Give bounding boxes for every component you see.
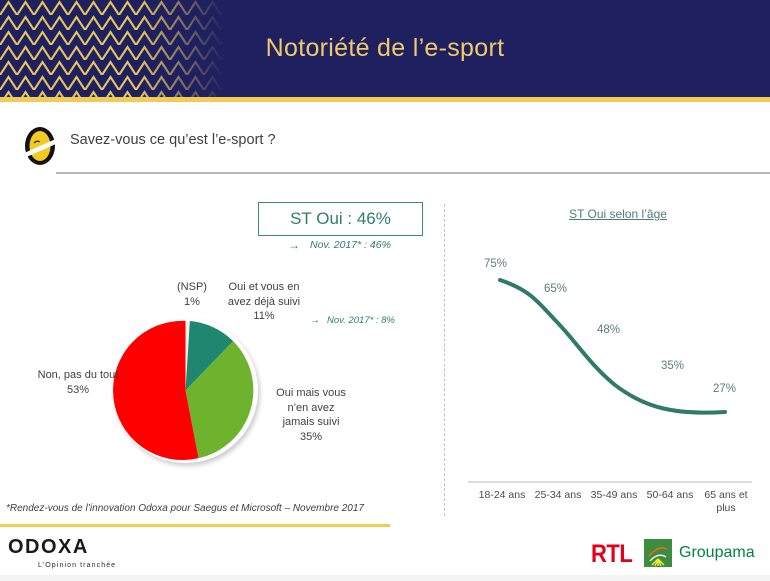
line-chart-x-label-0: 18-24 ans [473,489,531,502]
pie-label-oui-suivi-value: 11% [218,309,310,324]
pie-label-nsp-value: 1% [162,295,222,310]
line-chart-value-label-3: 35% [661,360,684,372]
pie-label-non-value: 53% [18,383,138,398]
slide-header: Notoriété de l’e-sport [0,0,770,97]
pie-label-oui-jamais: Oui mais vous n’en avez jamais suivi 35% [265,386,357,444]
line-chart-value-label-4: 27% [713,383,736,395]
odoxa-wordmark-text: ODOXA [8,536,89,559]
question-divider [56,172,770,174]
pie-label-non-line1: Non, pas du tout [18,368,138,383]
pie-label-oui-jamais-line2: n’en avez [265,401,357,416]
line-chart-title: ST Oui selon l’âge [468,207,768,221]
pie-label-oui-suivi-line1: Oui et vous en [218,280,310,295]
pie-label-oui-jamais-line1: Oui mais vous [265,386,357,401]
odoxa-logo-mark [20,124,60,168]
pie-label-non: Non, pas du tout 53% [18,368,138,397]
slide-root: Notoriété de l’e-sport Savez-vous ce qu’… [0,0,770,581]
page-title: Notoriété de l’e-sport [0,0,770,97]
line-chart-x-label-1: 25-34 ans [529,489,587,502]
st-oui-badge: ST Oui : 46% [258,202,423,236]
line-chart-series-path [500,280,725,413]
pie-annotation-text: Nov. 2017* : 8% [327,315,395,326]
pie-label-oui-suivi-line2: avez déjà suivi [218,295,310,310]
groupama-logo: Groupama [644,539,755,567]
pie-annotation-nov2017: → Nov. 2017* : 8% [310,315,395,326]
slide-bottom-edge [0,575,770,581]
arrow-right-icon: → [288,238,300,252]
line-chart-x-label-2: 35-49 ans [585,489,643,502]
pie-label-oui-jamais-value: 35% [265,430,357,445]
line-chart-svg [460,240,760,490]
odoxa-wordmark: ODOXA [8,536,116,559]
st-oui-comparison-text: Nov. 2017* : 46% [310,239,391,251]
arrow-right-icon-2: → [310,315,320,326]
footer-gold-rule [0,524,390,527]
st-oui-comparison: → Nov. 2017* : 46% [288,238,391,252]
question-text: Savez-vous ce qu’est l’e-sport ? [70,132,276,148]
pie-label-oui-jamais-line3: jamais suivi [265,415,357,430]
line-chart-value-label-0: 75% [484,258,507,270]
source-note: *Rendez-vous de l’innovation Odoxa pour … [6,503,364,514]
groupama-wordmark: Groupama [679,544,755,562]
line-chart-value-label-2: 48% [597,324,620,336]
line-chart-x-label-4: 65 ans et plus [700,489,752,515]
header-gold-rule [0,97,770,102]
pie-label-oui-suivi: Oui et vous en avez déjà suivi 11% [218,280,310,324]
line-chart-x-label-3: 50-64 ans [641,489,699,502]
groupama-mark-icon [644,539,672,567]
pie-label-nsp: (NSP) 1% [162,280,222,309]
panel-divider [444,204,445,516]
pie-label-nsp-name: (NSP) [162,280,222,295]
odoxa-tagline: L’Opinion tranchée [38,562,116,569]
odoxa-footer-logo: ODOXA L’Opinion tranchée [8,536,116,569]
rtl-logo: RTL [591,539,632,568]
line-chart-value-label-1: 65% [544,283,567,295]
